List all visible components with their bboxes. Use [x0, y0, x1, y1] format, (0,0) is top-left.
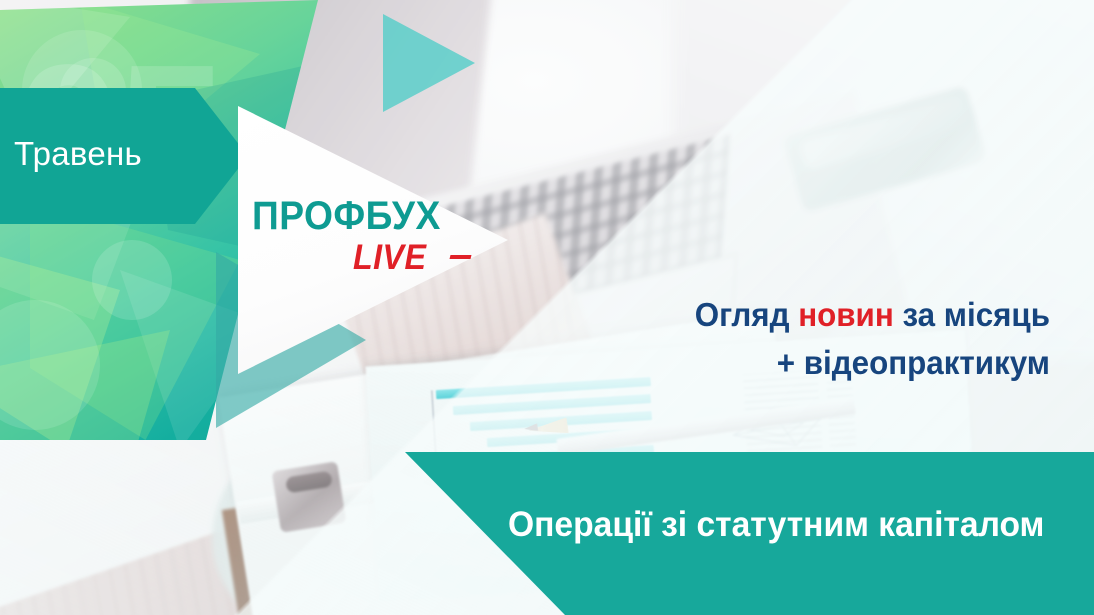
headline-text-before: Огляд — [695, 296, 798, 333]
logo-main-text: ПРОФБУХ — [252, 196, 457, 236]
headline-line-1: Огляд новин за місяць — [695, 296, 1050, 335]
logo-live-row: LIVE — [252, 240, 472, 275]
promo-banner: 05 Травень ПРОФБУХ LIVE Огляд новин за м… — [0, 0, 1094, 615]
decor-circle — [92, 240, 172, 320]
headline: Огляд новин за місяць + відеопрактикум — [676, 296, 1050, 383]
month-label: Травень — [14, 135, 214, 173]
headline-text-after: за місяць — [894, 296, 1050, 333]
topic-title: Операції зі статутним капіталом — [508, 505, 1055, 545]
logo-live-text: LIVE — [353, 240, 426, 275]
headline-highlight: новин — [798, 296, 894, 333]
brand-logo: ПРОФБУХ LIVE — [252, 196, 472, 275]
headline-line-2: + відеопрактикум — [695, 344, 1050, 383]
logo-live-bar — [450, 255, 472, 259]
